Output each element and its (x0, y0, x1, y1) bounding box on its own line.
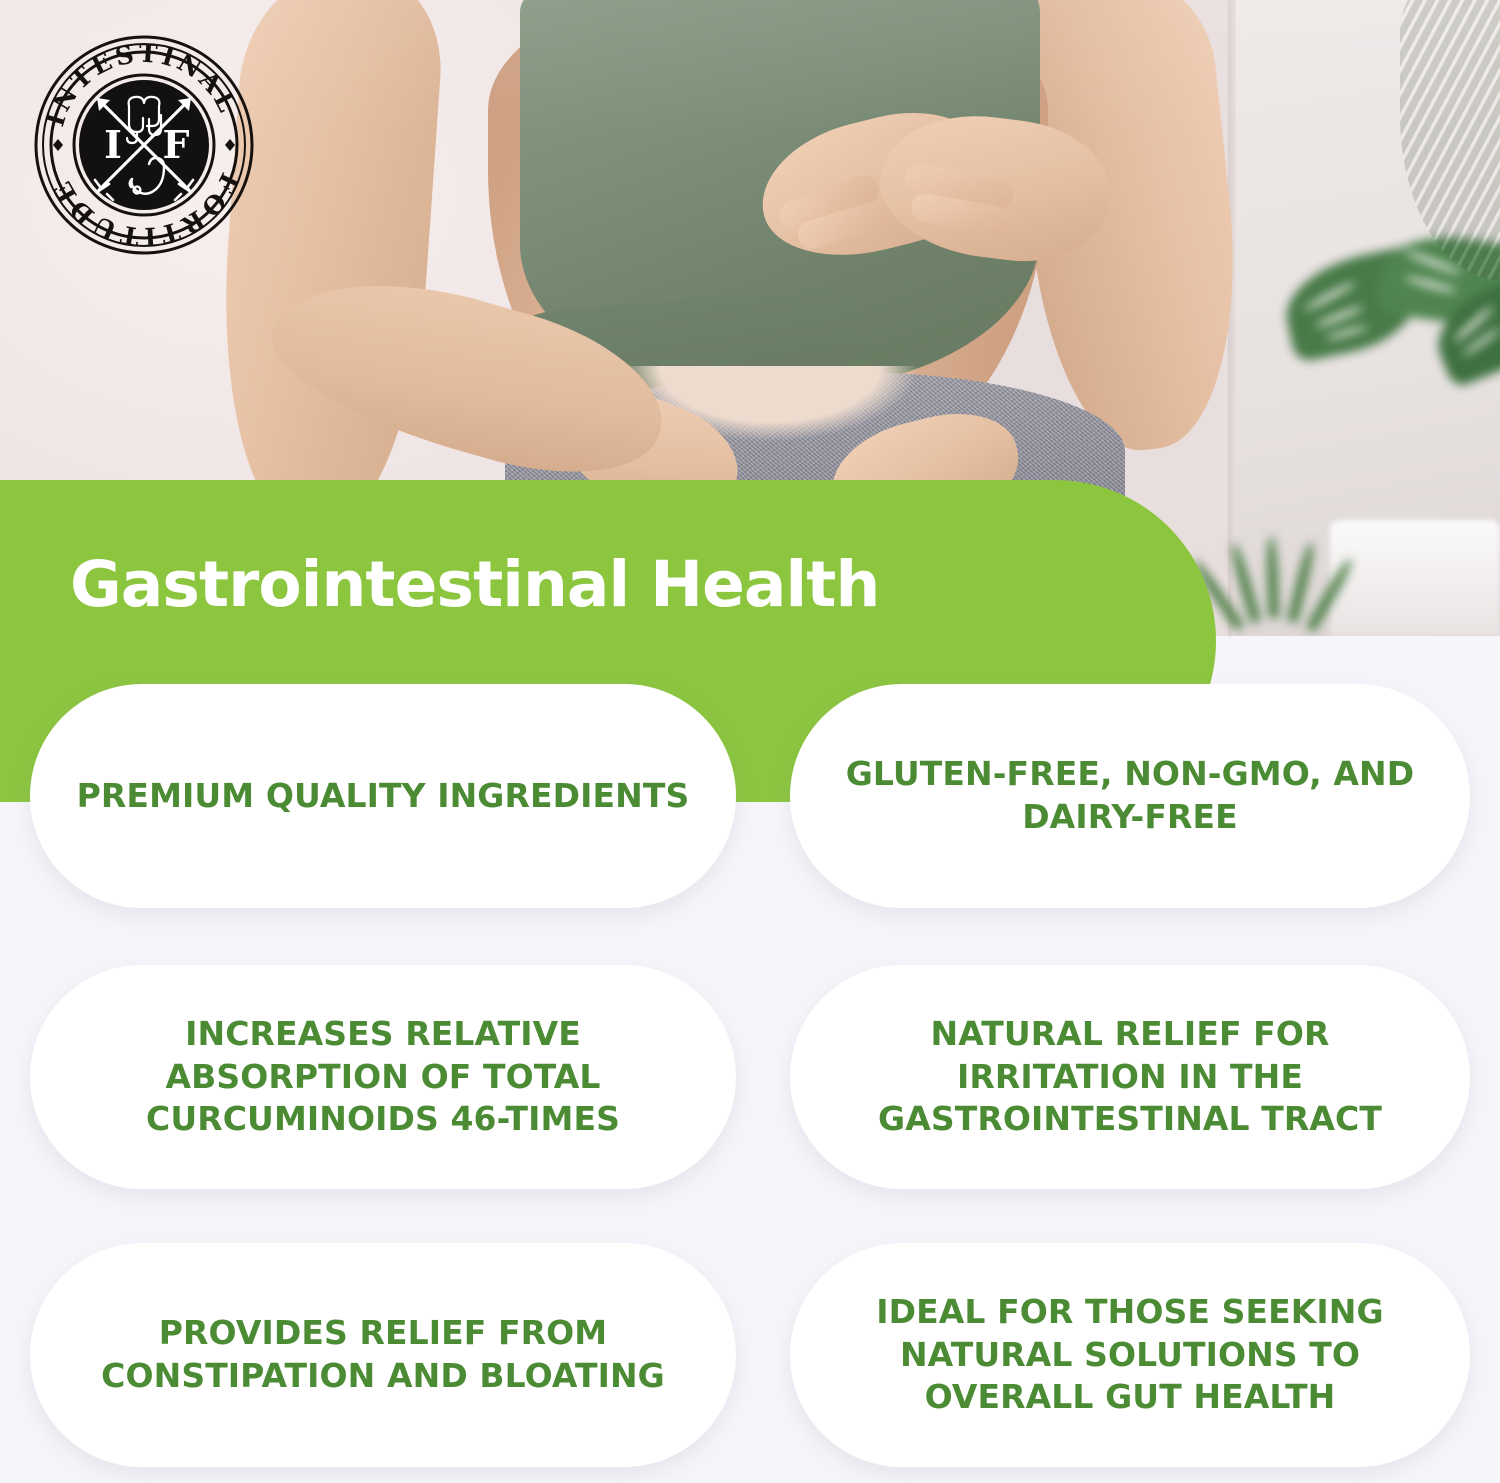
fabric-ruching (1400, 0, 1500, 280)
feature-card-label: PREMIUM QUALITY INGREDIENTS (33, 775, 734, 818)
feature-card-natural-relief-irritation[interactable]: NATURAL RELIEF FOR IRRITATION IN THE GAS… (790, 965, 1470, 1189)
page-title: Gastrointestinal Health (70, 552, 879, 618)
feature-card-label: PROVIDES RELIEF FROM CONSTIPATION AND BL… (30, 1312, 736, 1398)
feature-card-label: IDEAL FOR THOSE SEEKING NATURAL SOLUTION… (790, 1291, 1470, 1420)
feature-card-label: GLUTEN-FREE, NON-GMO, AND DAIRY-FREE (790, 753, 1470, 839)
feature-card-label: NATURAL RELIEF FOR IRRITATION IN THE GAS… (790, 1013, 1470, 1142)
svg-text:F: F (163, 122, 190, 167)
brand-logo: INTESTINAL FORTITUDE (33, 34, 255, 256)
feature-card-label: INCREASES RELATIVE ABSORPTION OF TOTAL C… (30, 1013, 736, 1142)
feature-card-gluten-free-non-gmo-dairy-free[interactable]: GLUTEN-FREE, NON-GMO, AND DAIRY-FREE (790, 684, 1470, 908)
feature-card-relief-constipation-bloating[interactable]: PROVIDES RELIEF FROM CONSTIPATION AND BL… (30, 1243, 736, 1467)
feature-card-increases-relative-absorption[interactable]: INCREASES RELATIVE ABSORPTION OF TOTAL C… (30, 965, 736, 1189)
feature-card-premium-quality-ingredients[interactable]: PREMIUM QUALITY INGREDIENTS (30, 684, 736, 908)
svg-text:I: I (104, 122, 122, 167)
product-feature-graphic: INTESTINAL FORTITUDE (0, 0, 1500, 1483)
feature-card-ideal-natural-solutions-gut-health[interactable]: IDEAL FOR THOSE SEEKING NATURAL SOLUTION… (790, 1243, 1470, 1467)
